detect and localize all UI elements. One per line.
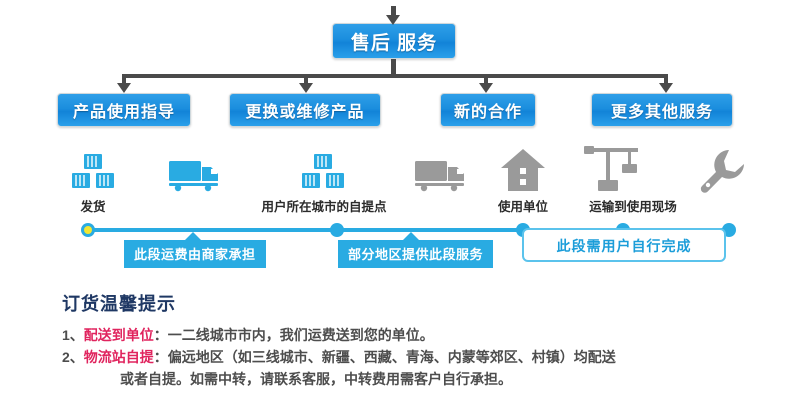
flow-node-more-services: 更多其他服务 xyxy=(591,93,733,127)
flow-node-label: 更多其他服务 xyxy=(611,98,713,122)
callout-pointer-icon xyxy=(402,232,420,241)
note-highlight: 配送到单位 xyxy=(84,327,154,343)
note-colon: ： xyxy=(154,327,168,343)
stage-label-end-user: 使用单位 xyxy=(487,196,559,215)
note-highlight: 物流站自提 xyxy=(84,349,154,365)
stage-label-pickup-point: 用户所在城市的自提点 xyxy=(248,196,400,215)
callout-text: 此段需用户自行完成 xyxy=(522,236,726,256)
timeline-dot-2 xyxy=(330,223,344,237)
callout-partial-area-service: 部分地区提供此段服务 xyxy=(338,240,493,268)
note-item-2: 2、物流站自提：偏远地区（如三线城市、新疆、西藏、青海、内蒙等郊区、村镇）均配送 xyxy=(62,346,782,368)
flow-node-product-guide: 产品使用指导 xyxy=(57,93,191,127)
notes-title: 订货温馨提示 xyxy=(62,290,782,316)
containers-icon xyxy=(300,152,346,195)
arrow-down-icon-1 xyxy=(117,83,131,93)
flow-node-root: 售后 服务 xyxy=(332,23,456,59)
stage-label-delivery-to-site: 运输到使用现场 xyxy=(577,196,689,215)
flow-node-replace-repair: 更换或维修产品 xyxy=(229,93,381,127)
note-text: 偏远地区（如三线城市、新疆、西藏、青海、内蒙等郊区、村镇）均配送 xyxy=(168,349,616,365)
crane-icon xyxy=(582,146,644,197)
stage-label-shipping: 发货 xyxy=(62,196,124,215)
connector-horizontal-bar xyxy=(122,74,668,78)
callout-merchant-pays: 此段运费由商家承担 xyxy=(124,240,266,268)
arrow-down-icon-4 xyxy=(659,83,673,93)
flow-node-label: 更换或维修产品 xyxy=(245,98,364,122)
wrench-icon xyxy=(698,148,746,199)
arrow-down-icon-root xyxy=(386,15,400,25)
note-number: 2、 xyxy=(62,349,84,365)
note-colon: ： xyxy=(154,349,168,365)
callout-pointer-icon xyxy=(184,232,202,241)
flow-node-root-label: 售后 服务 xyxy=(351,28,437,55)
arrow-down-icon-3 xyxy=(479,83,493,93)
flow-node-label: 产品使用指导 xyxy=(73,98,175,122)
notes-section: 订货温馨提示 1、配送到单位：一二线城市市内，我们运费送到您的单位。 2、物流站… xyxy=(62,290,782,390)
truck-icon xyxy=(414,158,470,197)
callout-text: 此段运费由商家承担 xyxy=(134,247,256,262)
flow-node-new-cooperation: 新的合作 xyxy=(440,93,536,127)
house-icon xyxy=(500,148,546,197)
after-sales-service-infographic: 售后 服务 产品使用指导 更换或维修产品 新的合作 更多其他服务 xyxy=(0,0,790,412)
containers-icon xyxy=(70,152,116,195)
flow-node-label: 新的合作 xyxy=(454,98,522,122)
truck-icon xyxy=(168,158,224,197)
note-text: 一二线城市市内，我们运费送到您的单位。 xyxy=(168,327,434,343)
note-item-2-continued: 或者自提。如需中转，请联系客服，中转费用需客户自行承担。 xyxy=(62,368,782,390)
callout-text: 部分地区提供此段服务 xyxy=(348,247,483,262)
note-item-1: 1、配送到单位：一二线城市市内，我们运费送到您的单位。 xyxy=(62,324,782,346)
timeline-dot-1 xyxy=(81,223,95,237)
arrow-down-icon-2 xyxy=(299,83,313,93)
note-number: 1、 xyxy=(62,327,84,343)
